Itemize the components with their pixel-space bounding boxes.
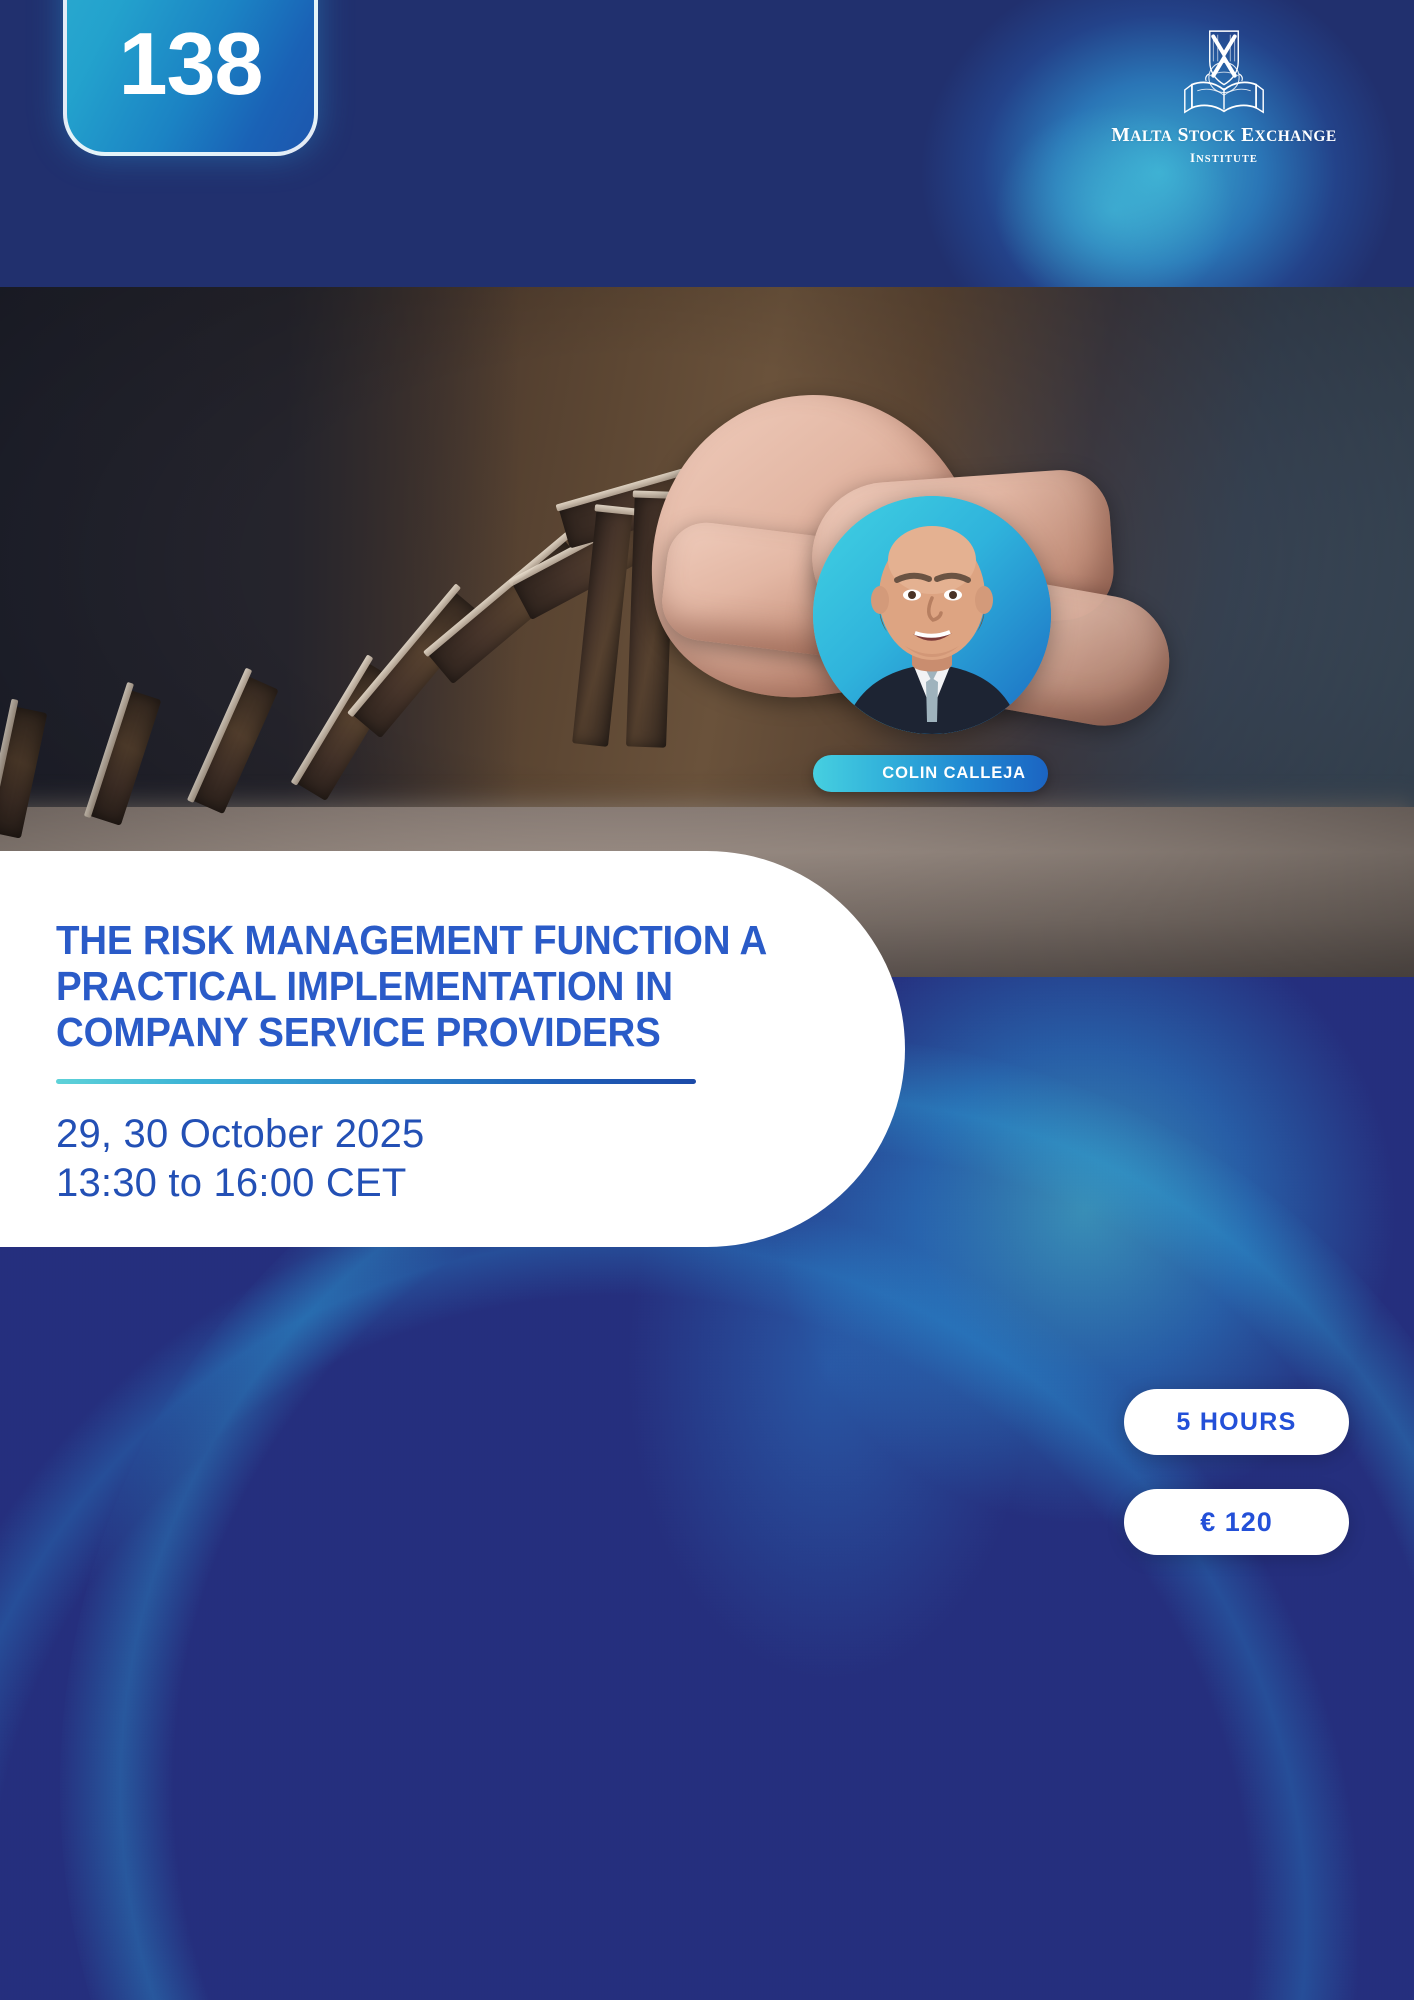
price-badge: € 120 [1124, 1489, 1349, 1555]
title-divider [56, 1079, 696, 1084]
course-schedule: 29, 30 October 2025 13:30 to 16:00 CET [56, 1110, 846, 1208]
speaker-avatar [813, 496, 1051, 734]
logo-institute-name: INSTITUTE [1104, 150, 1344, 166]
course-title: THE RISK MANAGEMENT FUNCTION A PRACTICAL… [56, 917, 807, 1055]
course-time: 13:30 to 16:00 CET [56, 1159, 846, 1208]
malta-stock-exchange-crest-icon [1170, 24, 1278, 122]
logo-organisation-name: MALTA STOCK EXCHANGE [1104, 126, 1344, 146]
speaker-name-badge: COLIN CALLEJA [813, 755, 1048, 792]
poster-header: 138 [0, 0, 1414, 287]
course-number-badge: 138 [63, 0, 318, 156]
course-date: 29, 30 October 2025 [56, 1110, 846, 1159]
speaker-name-label: COLIN CALLEJA [882, 764, 1026, 783]
malta-stock-exchange-institute-logo: MALTA STOCK EXCHANGE INSTITUTE [1104, 24, 1344, 166]
course-poster: 138 [0, 0, 1414, 2000]
duration-badge: 5 HOURS [1124, 1389, 1349, 1455]
course-number-label: 138 [119, 20, 263, 152]
course-info-panel: THE RISK MANAGEMENT FUNCTION A PRACTICAL… [0, 851, 905, 1247]
speaker-portrait-icon [813, 496, 1051, 734]
